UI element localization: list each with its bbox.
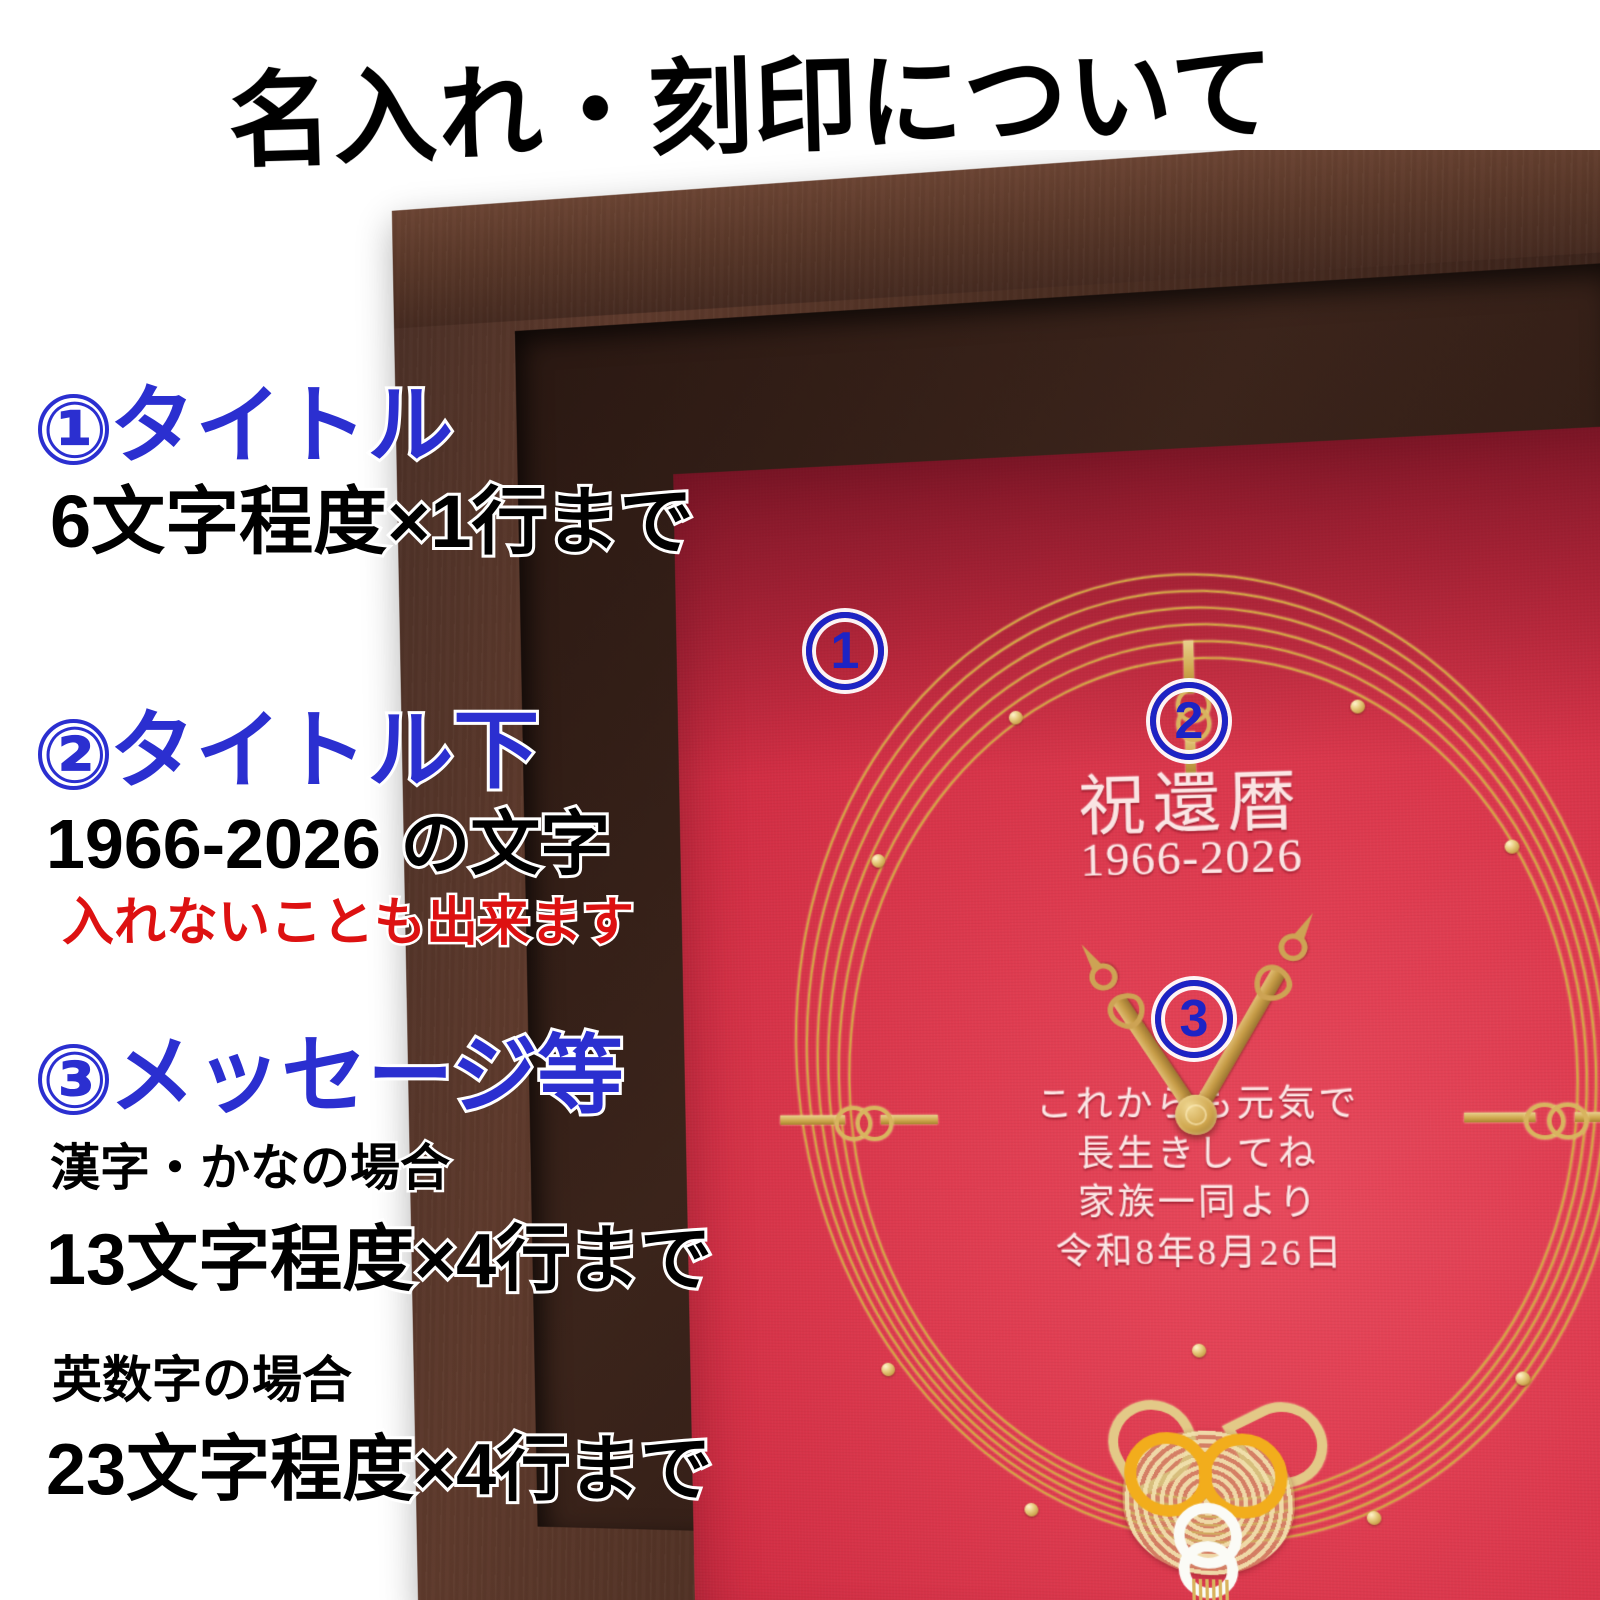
- section-3-heading: ③メッセージ等: [38, 1005, 623, 1130]
- engraved-message: これからも元気で 長生きしてね 家族一同より 令和8年8月26日: [685, 1077, 1600, 1282]
- section-2-number: ②: [38, 719, 109, 790]
- engraved-message-line: これからも元気で: [685, 1077, 1600, 1131]
- callout-badge-1: 1: [806, 612, 884, 690]
- infographic-page: 祝還暦 1966-2026 これからも元気で 長生きしてね 家族一同より 令和8…: [0, 0, 1600, 1600]
- section-2-line-2: 入れないことも出来ます: [62, 880, 634, 955]
- hour-marker-bead: [881, 1363, 895, 1377]
- hour-marker-bead: [1515, 1371, 1530, 1385]
- section-2-heading-label: タイトル下: [109, 703, 539, 799]
- section-1-number: ①: [38, 394, 109, 465]
- mizuhiki-ornament: [1097, 1399, 1322, 1600]
- callout-badge-2: 2: [1150, 682, 1228, 760]
- section-2-heading: ②タイトル下: [38, 680, 539, 805]
- engraved-message-line: 家族一同より: [687, 1179, 1600, 1231]
- callout-badge-3: 3: [1155, 980, 1233, 1058]
- section-3-line-4: 23文字程度×4行まで: [46, 1410, 712, 1515]
- section-1-line-1: 6文字程度×1行まで: [50, 462, 694, 569]
- page-title: 名入れ・刻印について: [226, 7, 1277, 187]
- section-3-number: ③: [38, 1044, 109, 1115]
- ornament-tail: [1192, 1579, 1231, 1600]
- section-2-line-1: 1966-2026 の文字: [46, 788, 610, 889]
- section-3-heading-label: メッセージ等: [109, 1028, 623, 1124]
- red-fabric-mat: 祝還暦 1966-2026 これからも元気で 長生きしてね 家族一同より 令和8…: [673, 420, 1600, 1600]
- clock-hub: [1175, 1095, 1218, 1135]
- section-1-heading-label: タイトル: [109, 378, 453, 474]
- section-3-line-3: 英数字の場合: [52, 1340, 352, 1412]
- section-3-line-1: 漢字・かなの場合: [50, 1128, 450, 1200]
- hour-marker-bead: [1367, 1511, 1382, 1525]
- frame-inner-recess: 祝還暦 1966-2026 これからも元気で 長生きしてね 家族一同より 令和8…: [515, 263, 1600, 1555]
- engraved-message-line: 長生きしてね: [686, 1129, 1600, 1180]
- hour-marker-bead: [1192, 1344, 1207, 1358]
- section-3-line-2: 13文字程度×4行まで: [46, 1200, 712, 1305]
- engraved-message-line: 令和8年8月26日: [688, 1227, 1600, 1283]
- hour-marker-bead: [1024, 1503, 1038, 1517]
